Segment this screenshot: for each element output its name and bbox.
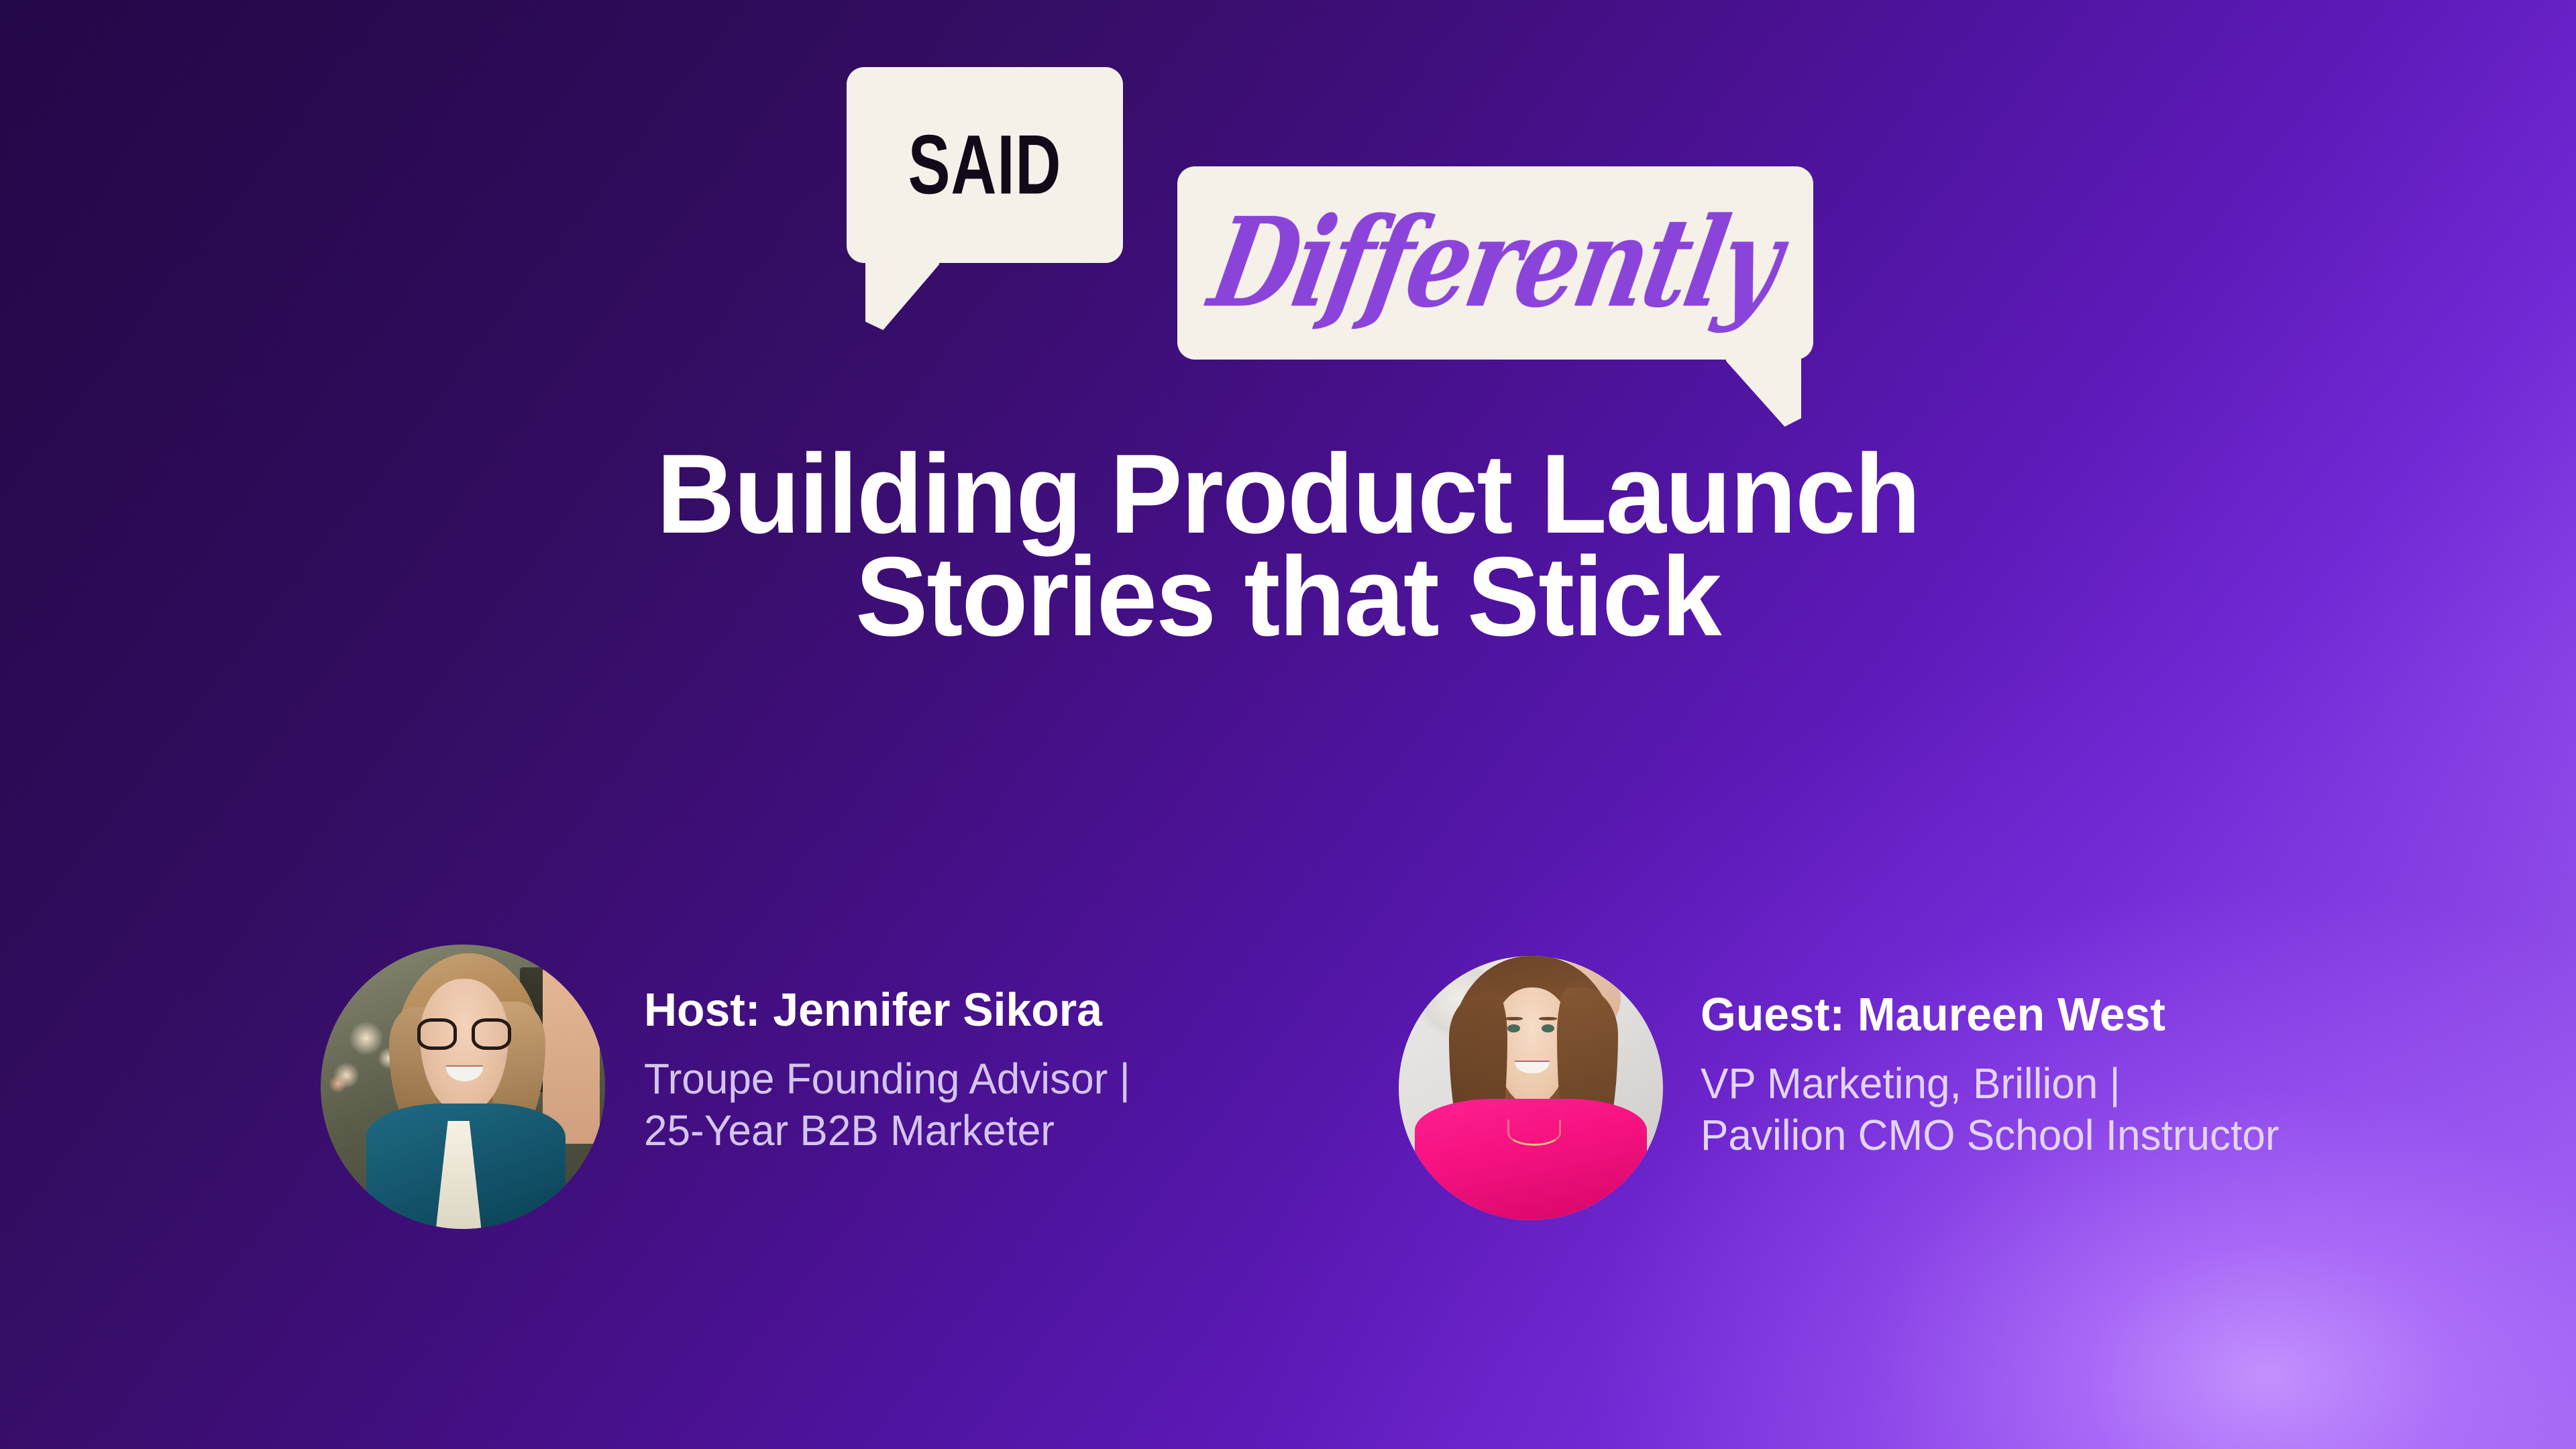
avatar-host [321, 945, 605, 1229]
speaker-guest-role-line-2: Pavilion CMO School Instructor [1701, 1110, 2279, 1161]
brand-bubble-said-label: SAID [908, 123, 1062, 207]
speech-bubble-tail-icon [865, 260, 939, 330]
page-title-line-2: Stories that Stick [45, 545, 2531, 648]
brand-bubble-said: SAID [847, 67, 1123, 263]
podcast-title-card: SAID Differently Building Product Launch… [0, 0, 2576, 1449]
speaker-host: Host: Jennifer Sikora Troupe Founding Ad… [321, 945, 1145, 1229]
speaker-host-name: Host: Jennifer Sikora [644, 983, 1130, 1036]
speaker-host-role-line-2: 25-Year B2B Marketer [644, 1105, 1130, 1157]
page-title-line-1: Building Product Launch [45, 443, 2531, 545]
brand-bubble-differently-label: Differently [1202, 202, 1788, 325]
speaker-host-role-line-1: Troupe Founding Advisor | [644, 1053, 1130, 1105]
page-title: Building Product Launch Stories that Sti… [0, 443, 2576, 648]
brand-bubble-differently: Differently [1177, 166, 1813, 360]
speaker-guest-role-line-1: VP Marketing, Brillion | [1701, 1058, 2279, 1110]
speaker-guest-name: Guest: Maureen West [1701, 988, 2279, 1040]
speakers-row: Host: Jennifer Sikora Troupe Founding Ad… [0, 926, 2576, 1275]
avatar-guest [1399, 956, 1663, 1220]
speech-bubble-tail-icon [1726, 357, 1801, 427]
speaker-guest: Guest: Maureen West VP Marketing, Brilli… [1399, 956, 2297, 1220]
